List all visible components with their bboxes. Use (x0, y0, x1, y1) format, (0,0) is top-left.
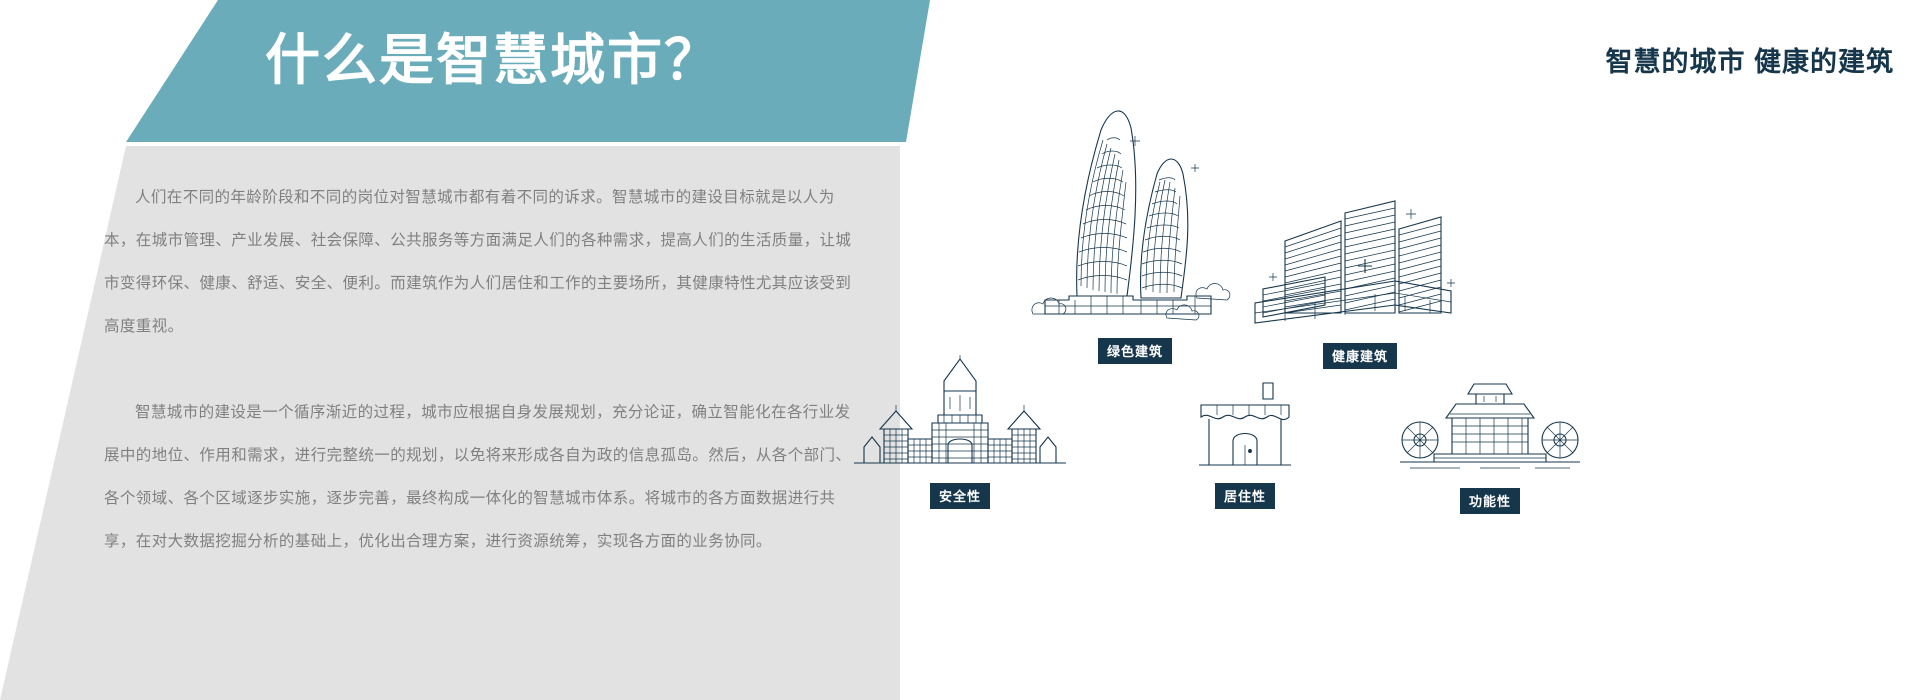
caption-safety: 安全性 (930, 483, 990, 509)
paragraph-2: 智慧城市的建设是一个循序渐近的过程，城市应根据自身发展规划，充分论证，确立智能化… (104, 391, 864, 563)
caption-green-building: 绿色建筑 (1098, 338, 1172, 364)
page-title: 什么是智慧城市？ (265, 30, 721, 91)
house-shop-icon (1165, 365, 1325, 475)
twisted-towers-icon (1015, 100, 1255, 330)
illustration-group: 绿色建筑 (820, 90, 1920, 700)
caption-wrap: 功能性 (1390, 488, 1590, 514)
hospital-complex-icon (1245, 195, 1475, 335)
paragraph-1: 人们在不同的年龄阶段和不同的岗位对智慧城市都有着不同的诉求。智慧城市的建设目标就… (104, 176, 864, 348)
illustration-green-building: 绿色建筑 (1015, 100, 1255, 364)
right-headline: 智慧的城市 健康的建筑 (1605, 40, 1894, 79)
caption-functionality: 功能性 (1460, 488, 1520, 514)
castle-icon (840, 355, 1080, 475)
caption-health-building: 健康建筑 (1323, 343, 1397, 369)
caption-livability: 居住性 (1215, 483, 1275, 509)
illustration-health-building: 健康建筑 (1245, 195, 1475, 369)
illustration-functionality: 功能性 (1390, 370, 1590, 514)
illustration-livability: 居住性 (1165, 365, 1325, 509)
illustration-safety: 安全性 (840, 355, 1080, 509)
pavilion-bridge-icon (1390, 370, 1590, 480)
caption-wrap: 安全性 (840, 483, 1080, 509)
body-text: 人们在不同的年龄阶段和不同的岗位对智慧城市都有着不同的诉求。智慧城市的建设目标就… (104, 176, 864, 563)
caption-wrap: 居住性 (1165, 483, 1325, 509)
